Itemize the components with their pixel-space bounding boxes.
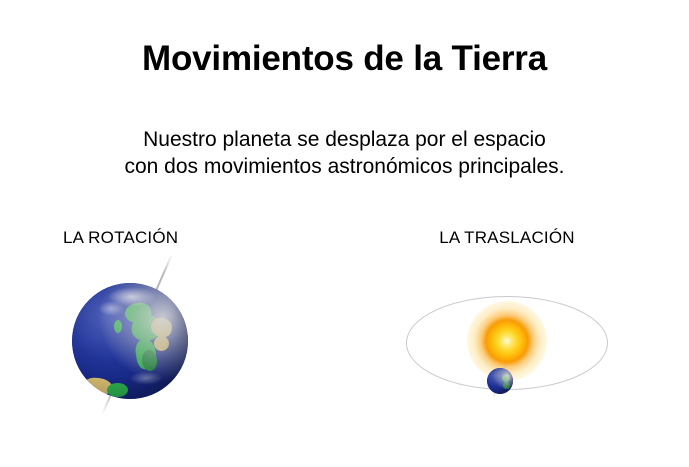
section-label-rotacion: LA ROTACIÓN [63,228,178,248]
rotation-figure [60,255,220,425]
page-title: Movimientos de la Tierra [0,38,689,80]
subtitle-line-2: con dos movimientos astronómicos princip… [0,153,689,180]
globe-shading [487,368,513,394]
subtitle-line-1: Nuestro planeta se desplaza por el espac… [0,126,689,153]
slide-canvas: Movimientos de la Tierra Nuestro planeta… [0,0,689,467]
earth-globe-small-icon [487,368,513,394]
section-label-traslacion: LA TRASLACIÓN [407,228,607,248]
slide-subtitle: Nuestro planeta se desplaza por el espac… [0,126,689,180]
globe-shading [72,283,188,399]
earth-globe-icon [72,283,188,399]
translation-figure [396,286,620,406]
earth-orbiting-group [487,368,513,394]
